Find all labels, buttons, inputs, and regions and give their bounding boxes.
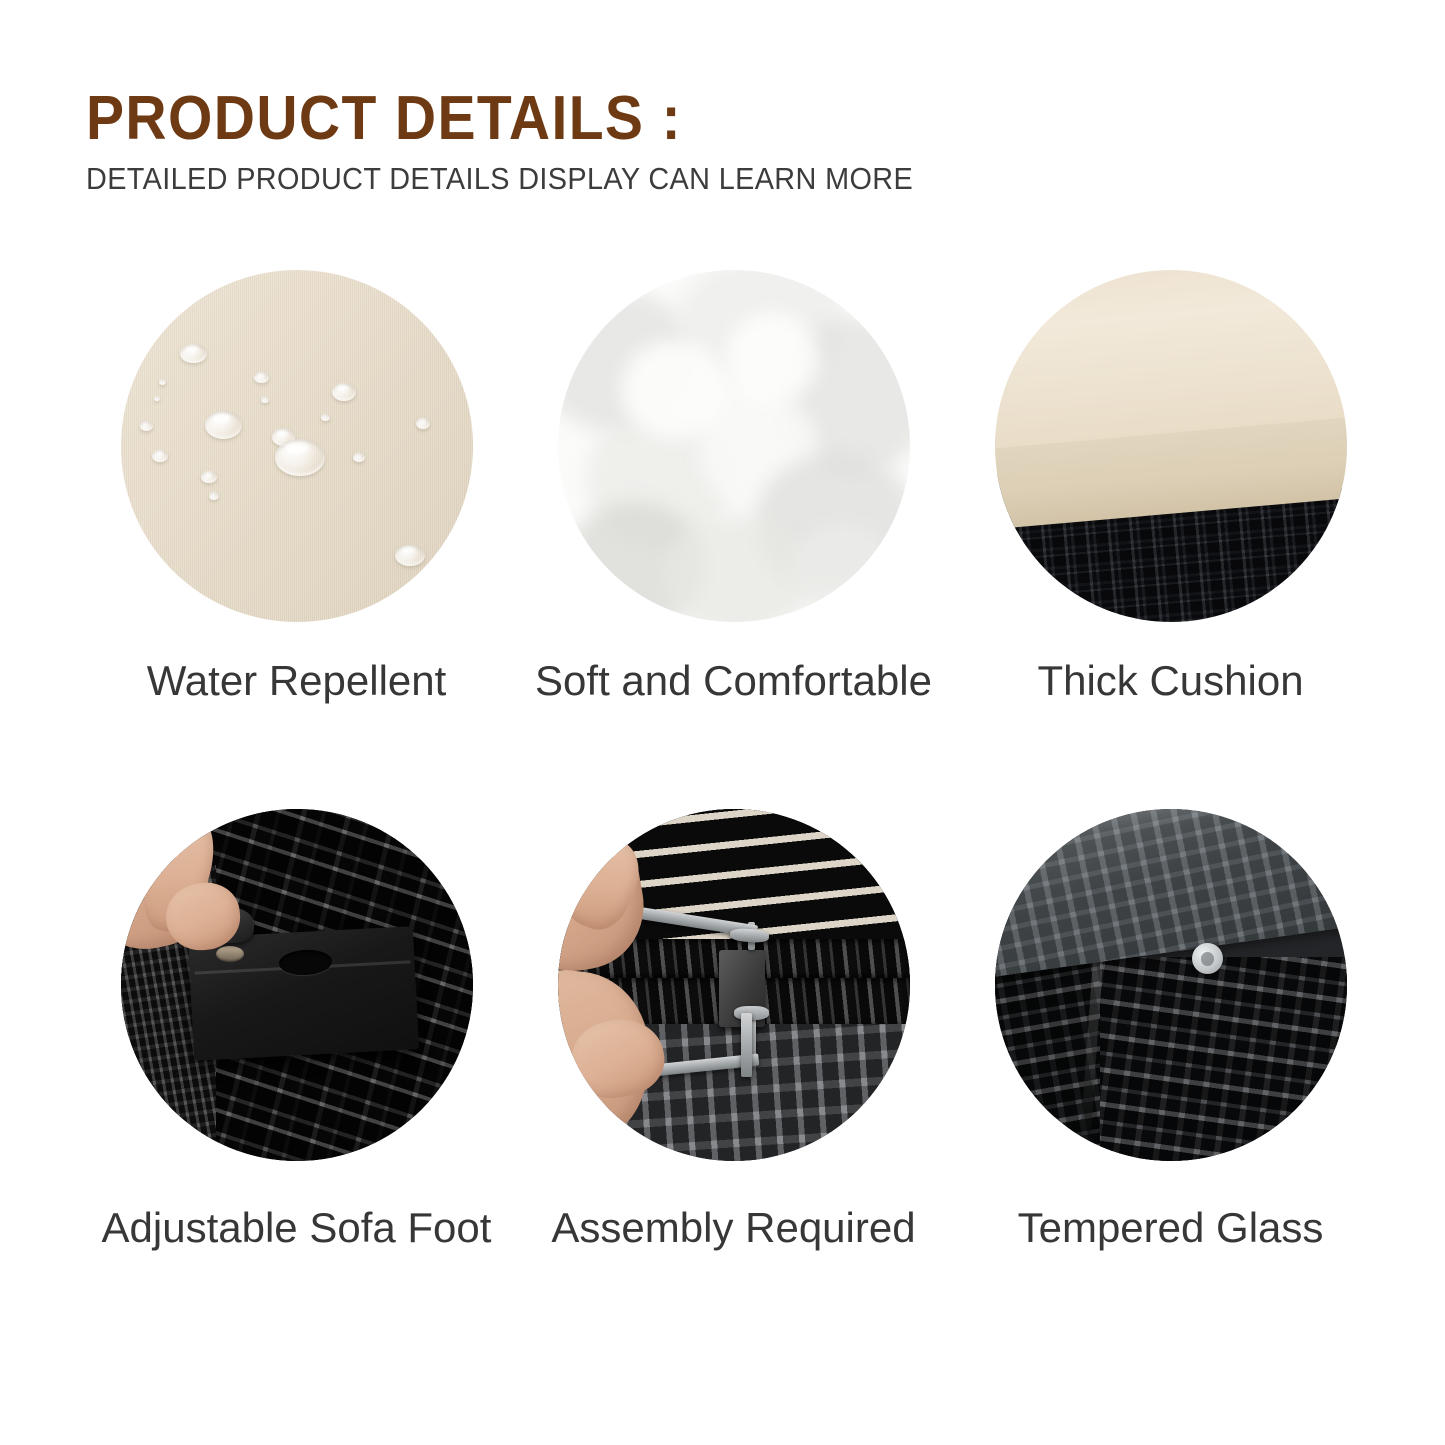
water-droplet: [180, 344, 206, 363]
fiber-shadow: [726, 312, 818, 404]
page-header: PRODUCT DETAILS : DETAILED PRODUCT DETAI…: [86, 88, 1366, 196]
feature-cell-thick-cushion: Thick Cushion: [952, 270, 1389, 704]
water-droplet: [321, 414, 329, 421]
fiber-shadow: [663, 516, 811, 622]
feature-cell-soft-and-comfortable: Soft and Comfortable: [515, 270, 952, 704]
cushion-scene: [995, 270, 1347, 622]
feature-row-1: Water Repellent Soft and Comfortable: [0, 270, 1445, 704]
fiber-shadow: [621, 340, 727, 439]
foot-screw: [216, 946, 244, 962]
water-droplet: [159, 379, 166, 385]
feature-image-adjustable-sofa-foot: [121, 809, 473, 1161]
water-droplet: [261, 397, 269, 403]
fiber-shadow: [790, 523, 896, 622]
assembly-scene: [558, 809, 910, 1161]
feature-caption: Thick Cushion: [1037, 658, 1303, 704]
rattan-front-face: [1100, 957, 1346, 1161]
feature-caption: Adjustable Sofa Foot: [102, 1205, 492, 1251]
page-title: PRODUCT DETAILS :: [86, 88, 1264, 150]
glass-table-scene: [995, 809, 1347, 1161]
feature-caption: Soft and Comfortable: [535, 658, 932, 704]
feature-image-soft-and-comfortable: [558, 270, 910, 622]
feature-row-2: Adjustable Sofa Foot: [0, 809, 1445, 1251]
water-droplet: [395, 545, 425, 566]
feature-grid: Water Repellent Soft and Comfortable: [0, 270, 1445, 1251]
water-droplet: [205, 411, 242, 439]
feature-caption: Assembly Required: [551, 1205, 915, 1251]
feature-cell-tempered-glass: Tempered Glass: [952, 809, 1389, 1251]
water-droplet: [275, 439, 324, 476]
feature-image-water-repellent: [121, 270, 473, 622]
feature-cell-adjustable-sofa-foot: Adjustable Sofa Foot: [78, 809, 515, 1251]
water-droplet: [201, 471, 216, 483]
sofa-foot-scene: [121, 809, 473, 1161]
feature-caption: Tempered Glass: [1018, 1205, 1324, 1251]
water-droplet: [140, 421, 153, 431]
water-droplet: [154, 397, 160, 402]
water-droplet: [332, 383, 357, 401]
page-subtitle: DETAILED PRODUCT DETAILS DISPLAY CAN LEA…: [86, 162, 1276, 196]
feature-caption: Water Repellent: [147, 658, 447, 704]
feature-image-tempered-glass: [995, 809, 1347, 1161]
feature-cell-water-repellent: Water Repellent: [78, 270, 515, 704]
feature-cell-assembly-required: Assembly Required: [515, 809, 952, 1251]
feature-image-assembly-required: [558, 809, 910, 1161]
feature-image-thick-cushion: [995, 270, 1347, 622]
allen-wrench-lower-bend: [741, 1013, 752, 1076]
